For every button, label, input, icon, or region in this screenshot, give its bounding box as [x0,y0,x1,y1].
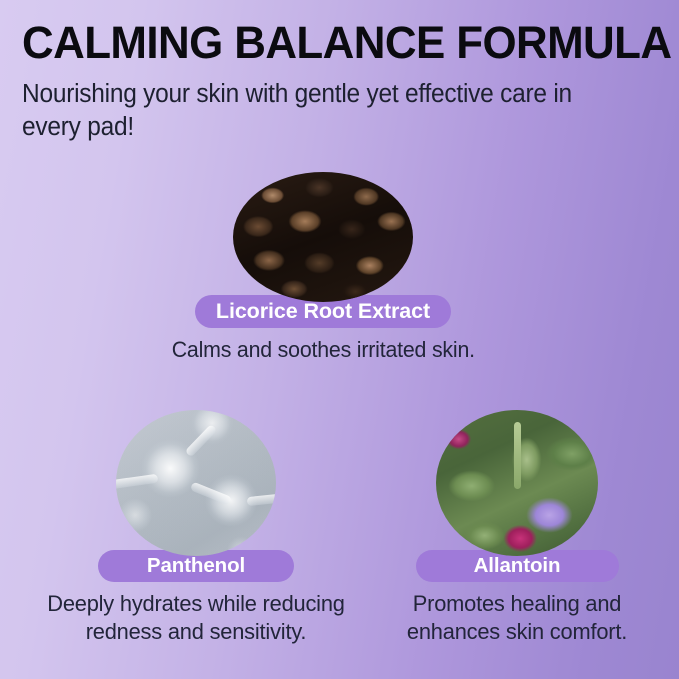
ingredient-description-licorice-root-extract: Calms and soothes irritated skin. [171,336,474,364]
molecule-bond-icon [184,424,217,458]
panthenol-molecule-photo-image [116,410,276,556]
ingredient-card-panthenol: Panthenol Deeply hydrates while reducing… [8,410,384,646]
ingredient-description-allantoin: Promotes healing and enhances skin comfo… [372,590,663,646]
comfrey-flower-photo [436,410,598,556]
comfrey-flower-photo-image [436,410,598,556]
ingredient-card-licorice-root-extract: Licorice Root Extract Calms and soothes … [153,172,493,364]
ingredient-description-panthenol: Deeply hydrates while reducing redness a… [31,590,361,646]
page-subtitle: Nourishing your skin with gentle yet eff… [22,78,636,144]
molecule-bond-icon [247,493,276,506]
plant-stem-icon [514,422,521,489]
page-title: CALMING BALANCE FORMULA [22,18,654,67]
panthenol-molecule-photo [116,410,276,556]
licorice-root-photo [233,172,413,302]
licorice-root-photo-image [233,172,413,302]
ingredient-infographic: CALMING BALANCE FORMULA Nourishing your … [0,0,679,679]
molecule-bond-icon [116,474,158,490]
header: CALMING BALANCE FORMULA Nourishing your … [22,18,670,144]
molecule-bond-icon [189,481,231,505]
ingredient-card-allantoin: Allantoin Promotes healing and enhances … [358,410,676,646]
